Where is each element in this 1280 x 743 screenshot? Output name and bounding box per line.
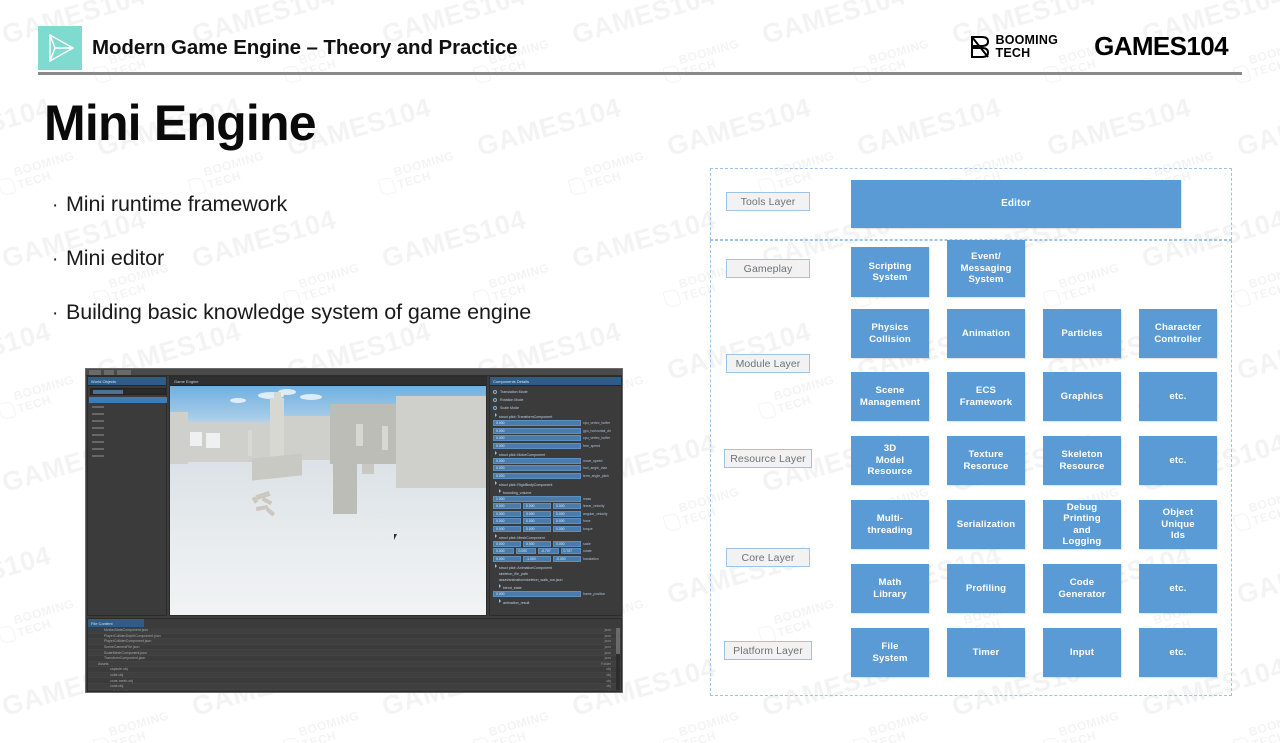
inspector-value-field[interactable]: 0.000 <box>493 556 521 562</box>
editor-screenshot: World Objects Game Engine <box>85 368 623 693</box>
inspector-panel: Components Details Translation ModeRotat… <box>489 376 622 616</box>
booming-tech-b-icon <box>969 35 991 59</box>
inspector-subgroup-label: blend_state <box>503 586 522 590</box>
viewport-tab: Game Engine <box>170 377 486 386</box>
node-label: etc. <box>1167 391 1188 403</box>
inspector-property-row: 0.0000.0000.000force <box>493 518 617 524</box>
file-name: cone.obj <box>88 684 123 688</box>
inspector-property-label: cpu_vertex_buffer <box>583 421 617 425</box>
hierarchy-row[interactable] <box>92 441 104 443</box>
node-label: CodeGenerator <box>1056 577 1107 600</box>
engine-architecture-diagram: Tools Layer Gameplay Module Layer Resour… <box>710 168 1232 696</box>
file-name: ScaleMeshComponent.json <box>88 651 147 655</box>
inspector-value-text: 0.000 <box>496 519 505 523</box>
file-type: json <box>605 645 611 649</box>
inspector-value-text: 0.000 <box>496 557 505 561</box>
inspector-property-row: 0.000free_speed <box>493 443 617 449</box>
expand-triangle-icon <box>495 534 497 538</box>
inspector-value-field[interactable]: -0.000 <box>553 556 581 562</box>
header-divider <box>38 72 1242 75</box>
node-event-messaging-system[interactable]: Event/MessagingSystem <box>947 240 1025 297</box>
inspector-subgroup-header[interactable]: animation_result <box>499 599 617 605</box>
watermark-booming-tech: BOOMINGTECH <box>90 709 174 743</box>
inspector-property-row: 1.000mass <box>493 496 617 502</box>
node-ecs-framework[interactable]: ECSFramework <box>947 372 1025 421</box>
inspector-value-field[interactable]: 0.000 <box>493 465 581 471</box>
watermark-booming-tech: BOOMINGTECH <box>1230 485 1280 532</box>
inspector-value-text: 0.000 <box>496 549 505 553</box>
file-name: PlayerColliderComponent.json <box>88 639 151 643</box>
bullet-item-2: ·Building basic knowledge system of game… <box>52 300 672 325</box>
watermark-booming-tech: BOOMINGTECH <box>375 149 459 196</box>
file-type: obj <box>606 679 611 683</box>
inspector-value-field[interactable]: 0.000 <box>516 548 537 554</box>
node-label: MathLibrary <box>871 577 909 600</box>
watermark-games104: GAMES104 <box>1044 92 1195 163</box>
file-type: Folder <box>601 662 611 666</box>
inspector-group-header[interactable]: struct pilot::MeshComponent <box>495 534 617 540</box>
watermark-booming-tech: BOOMINGTECH <box>1040 709 1124 743</box>
inspector-property-row: 0.000cpu_vertex_buffer <box>493 420 617 426</box>
watermark-games104: GAMES104 <box>664 92 815 163</box>
inspector-value-text: -0.707 <box>541 549 551 553</box>
inspector-property-row: 0.000-1.000-0.000translation <box>493 556 617 562</box>
node-scripting-system[interactable]: ScriptingSystem <box>851 247 929 297</box>
file-browser-scrollbar[interactable] <box>616 628 620 690</box>
node-label: 3DModelResource <box>866 443 915 478</box>
hierarchy-selected-row[interactable] <box>89 397 167 403</box>
inspector-value-text: 0.000 <box>496 474 505 478</box>
tag-module-layer: Module Layer <box>726 354 810 373</box>
inspector-property-label: translation <box>583 557 617 561</box>
inspector-value-field[interactable]: 0.000 <box>493 428 581 434</box>
radio-icon <box>493 398 497 402</box>
node-file-system[interactable]: FileSystem <box>851 628 929 677</box>
hierarchy-row[interactable] <box>92 427 104 429</box>
watermark-booming-tech: BOOMINGTECH <box>0 373 79 420</box>
inspector-property-label: move_speed <box>583 459 617 463</box>
node-label: CharacterController <box>1152 322 1203 345</box>
node-multithreading[interactable]: Multi-threading <box>851 500 929 549</box>
inspector-value-text: 0.000 <box>496 527 505 531</box>
node-debug-printing-and-logging[interactable]: DebugPrintingandLogging <box>1043 500 1121 549</box>
booming-text-line2: TECH <box>995 47 1058 60</box>
inspector-value-text: 0.000 <box>556 512 565 516</box>
file-name: Assets <box>88 662 109 666</box>
inspector-property-label: force <box>583 519 617 523</box>
inspector-value-text: 0.000 <box>496 459 505 463</box>
inspector-value-field[interactable]: -1.000 <box>523 556 551 562</box>
tag-core-layer: Core Layer <box>726 548 810 567</box>
slide-root: GAMES104BOOMINGTECHGAMES104BOOMINGTECHGA… <box>0 0 1280 743</box>
radio-icon <box>493 406 497 410</box>
node-label: Editor <box>999 198 1033 210</box>
node-label: PhysicsCollision <box>867 322 913 345</box>
bullet-text: Mini runtime framework <box>66 192 287 217</box>
bullet-marker-icon: · <box>52 195 66 217</box>
node-core-etc[interactable]: etc. <box>1139 564 1217 613</box>
inspector-value-field[interactable]: 0.000 <box>553 518 581 524</box>
play-triangle-icon <box>38 26 82 70</box>
inspector-value-text: 0.000 <box>556 504 565 508</box>
node-particles[interactable]: Particles <box>1043 309 1121 358</box>
inspector-value-text: 0.000 <box>496 466 505 470</box>
booming-tech-b-icon <box>472 736 491 743</box>
inspector-property-row: 0.0000.000-0.7070.707rotate <box>493 548 617 554</box>
booming-tech-b-icon <box>1042 736 1061 743</box>
file-type: obj <box>606 673 611 677</box>
hierarchy-panel: World Objects <box>87 376 167 616</box>
node-label: etc. <box>1167 647 1188 659</box>
booming-tech-logo: BOOMING TECH <box>969 34 1058 59</box>
inspector-mode-radio[interactable]: Translation Mode <box>493 388 617 395</box>
node-editor[interactable]: Editor <box>851 180 1181 228</box>
bullet-item-1: ·Mini editor <box>52 246 672 271</box>
node-label: SkeletonResource <box>1058 449 1107 472</box>
screenshot-body: World Objects Game Engine <box>86 376 622 616</box>
hierarchy-row[interactable] <box>92 455 104 457</box>
inspector-value-text: 0.000 <box>526 504 535 508</box>
file-type: json <box>605 639 611 643</box>
node-label: Serialization <box>955 519 1017 531</box>
inspector-value-text: 0.000 <box>496 444 505 448</box>
inspector-subgroup-label: bounding_volume <box>503 491 531 495</box>
file-name: cylinder.obj <box>88 690 128 692</box>
watermark-games104: GAMES104 <box>1234 316 1280 387</box>
inspector-group-label: struct pilot::MotorComponent <box>499 453 545 457</box>
watermark-booming-tech: BOOMINGTECH <box>565 149 649 196</box>
inspector-value-field[interactable]: 0.000 <box>493 435 581 441</box>
node-timer[interactable]: Timer <box>947 628 1025 677</box>
node-animation[interactable]: Animation <box>947 309 1025 358</box>
node-input[interactable]: Input <box>1043 628 1121 677</box>
watermark-booming-tech: BOOMINGTECH <box>1230 261 1280 308</box>
inspector-property-label: rotate <box>583 549 617 553</box>
inspector-subgroup-header[interactable]: bounding_volume <box>499 489 617 495</box>
expand-triangle-icon <box>499 489 501 493</box>
inspector-property-row: 0.0000.0000.000linear_velocity <box>493 503 617 509</box>
node-3d-model-resource[interactable]: 3DModelResource <box>851 436 929 485</box>
node-label: Graphics <box>1059 391 1106 403</box>
viewport-cursor <box>394 534 399 540</box>
inspector-property-row: 0.0000.0000.000torque <box>493 526 617 532</box>
node-label: Profiling <box>964 583 1008 595</box>
hierarchy-search-input[interactable] <box>90 388 166 395</box>
inspector-property-row: 0.000frame_position <box>493 591 617 597</box>
file-type: obj <box>606 684 611 688</box>
watermark-booming-tech: BOOMINGTECH <box>1230 709 1280 743</box>
inspector-group-header[interactable]: struct pilot::TransformComponent <box>495 413 617 419</box>
inspector-subgroup-label: animation_result <box>503 601 529 605</box>
watermark-games104: GAMES104 <box>1234 540 1280 611</box>
watermark-booming-tech: BOOMINGTECH <box>660 709 744 743</box>
inspector-tab: Components Details <box>490 377 621 386</box>
inspector-value-field[interactable]: 0.000 <box>493 443 581 449</box>
bullet-text: Building basic knowledge system of game … <box>66 300 531 325</box>
expand-triangle-icon <box>495 451 497 455</box>
inspector-value-field[interactable]: 0.000 <box>553 503 581 509</box>
node-label: ObjectUniqueIds <box>1159 507 1196 542</box>
watermark-games104: GAMES104 <box>0 316 54 387</box>
inspector-value-text: 0.000 <box>496 421 505 425</box>
node-serialization[interactable]: Serialization <box>947 500 1025 549</box>
watermark-booming-tech: BOOMINGTECH <box>280 709 364 743</box>
hierarchy-row[interactable] <box>92 420 104 422</box>
watermark-booming-tech: BOOMINGTECH <box>185 149 269 196</box>
tag-tools-layer: Tools Layer <box>726 192 810 211</box>
bullet-item-0: ·Mini runtime framework <box>52 192 672 217</box>
inspector-value-text: -1.000 <box>526 557 536 561</box>
inspector-value-text: 0.000 <box>526 542 535 546</box>
file-browser-panel: File Content MotionStateComponent.jsonjs… <box>87 618 622 692</box>
hierarchy-row[interactable] <box>92 434 104 436</box>
inspector-value-field[interactable]: 0.000 <box>493 541 521 547</box>
file-type: json <box>605 651 611 655</box>
inspector-value-text: 0.707 <box>564 549 573 553</box>
inspector-property-label: hori_angle_max <box>583 466 617 470</box>
inspector-property-label: free_speed <box>583 444 617 448</box>
inspector-property-label: cpu_vertex_buffer <box>583 436 617 440</box>
expand-triangle-icon <box>499 584 501 588</box>
tag-platform-layer: Platform Layer <box>724 641 812 660</box>
node-label: Event/MessagingSystem <box>959 251 1014 286</box>
inspector-value-field[interactable]: 0.000 <box>493 420 581 426</box>
file-name: SceneCameraFile.json <box>88 645 139 649</box>
node-label: Multi-threading <box>865 513 914 536</box>
node-label: Input <box>1068 647 1096 659</box>
inspector-property-row: 0.000hori_angle_max <box>493 465 617 471</box>
screenshot-menubar <box>86 369 622 376</box>
inspector-value-text: 0.000 <box>496 512 505 516</box>
node-label: TextureResoruce <box>962 449 1011 472</box>
inspector-value-field[interactable]: 0.000 <box>493 503 521 509</box>
watermark-booming-tech: BOOMINGTECH <box>850 709 934 743</box>
inspector-property-label: term_angle_pitch <box>583 474 617 478</box>
hierarchy-tab-label: World Objects <box>91 379 116 384</box>
inspector-value-field[interactable]: 0.000 <box>553 526 581 532</box>
node-scene-management[interactable]: SceneManagement <box>851 372 929 421</box>
inspector-group-label: struct pilot::TransformComponent <box>499 415 552 419</box>
inspector-value-text: 0.000 <box>496 592 505 596</box>
inspector-value-field[interactable]: 0.000 <box>493 473 581 479</box>
node-label: Animation <box>960 328 1012 340</box>
inspector-value-text: 0.000 <box>496 542 505 546</box>
inspector-value-field[interactable]: 0.000 <box>523 541 551 547</box>
expand-triangle-icon <box>495 413 497 417</box>
inspector-value-field[interactable]: 0.000 <box>493 511 521 517</box>
watermark-booming-tech: BOOMINGTECH <box>470 709 554 743</box>
watermark-booming-tech: BOOMINGTECH <box>0 149 79 196</box>
file-name: TransformComponent.json <box>88 656 145 660</box>
inspector-group-header[interactable]: struct pilot::AnimationComponent <box>495 564 617 570</box>
booming-tech-b-icon <box>662 736 681 743</box>
file-name: MotionStateComponent.json <box>88 628 148 632</box>
inspector-value-field[interactable]: 0.000 <box>523 518 551 524</box>
node-label: FileSystem <box>870 641 909 664</box>
watermark-games104: GAMES104 <box>854 92 1005 163</box>
file-type: json <box>605 634 611 638</box>
watermark-games104: GAMES104 <box>474 92 625 163</box>
node-texture-resource[interactable]: TextureResoruce <box>947 436 1025 485</box>
node-platform-etc[interactable]: etc. <box>1139 628 1217 677</box>
inspector-value-text: 0.000 <box>526 512 535 516</box>
booming-tech-b-icon <box>1232 736 1251 743</box>
inspector-mode-label: Translation Mode <box>500 390 528 394</box>
inspector-tab-label: Components Details <box>493 379 529 384</box>
inspector-value-text: 0.000 <box>556 519 565 523</box>
file-row[interactable]: cylinder.objobj <box>88 690 621 692</box>
inspector-property-label: frame_position <box>583 592 617 596</box>
booming-tech-b-icon <box>92 736 111 743</box>
booming-tech-b-icon <box>282 736 301 743</box>
file-browser-tab: File Content <box>88 619 144 627</box>
booming-tech-b-icon <box>0 400 16 420</box>
file-type: json <box>605 656 611 660</box>
inspector-value-field[interactable]: 0.000 <box>523 526 551 532</box>
inspector-value-field[interactable]: 0.707 <box>561 548 582 554</box>
inspector-value-field[interactable]: 1.000 <box>493 496 581 502</box>
inspector-mode-label: Rotation Mode <box>500 398 523 402</box>
node-skeleton-resource[interactable]: SkeletonResource <box>1043 436 1121 485</box>
expand-triangle-icon <box>495 481 497 485</box>
node-character-controller[interactable]: CharacterController <box>1139 309 1217 358</box>
node-label: DebugPrintingandLogging <box>1061 502 1104 548</box>
expand-triangle-icon <box>499 599 501 603</box>
node-label: Timer <box>971 647 1002 659</box>
inspector-property-row: 0.0000.0000.000scale <box>493 541 617 547</box>
bullet-list: ·Mini runtime framework·Mini editor·Buil… <box>52 192 672 354</box>
inspector-property-label: scale <box>583 542 617 546</box>
hierarchy-tab: World Objects <box>88 377 166 386</box>
viewport-panel[interactable]: Game Engine <box>169 376 487 616</box>
inspector-value-text: 0.000 <box>496 429 505 433</box>
node-label: SceneManagement <box>858 385 922 408</box>
header-title: Modern Game Engine – Theory and Practice <box>92 36 517 60</box>
inspector-value-text: 0.000 <box>556 527 565 531</box>
inspector-mode-radio[interactable]: Rotation Mode <box>493 396 617 403</box>
file-type: obj <box>606 690 611 692</box>
slide-header: Modern Game Engine – Theory and Practice… <box>0 0 1280 78</box>
tag-resource-layer: Resource Layer <box>724 449 812 468</box>
node-label: etc. <box>1167 455 1188 467</box>
inspector-value-field[interactable]: 0.000 <box>493 591 581 597</box>
tag-gameplay: Gameplay <box>726 259 810 278</box>
inspector-value-text: -0.000 <box>556 557 566 561</box>
inspector-value-field[interactable]: 0.000 <box>523 503 551 509</box>
inspector-value-field[interactable]: 0.000 <box>493 548 514 554</box>
file-type: obj <box>606 667 611 671</box>
inspector-property-row: 0.000move_speed <box>493 458 617 464</box>
hierarchy-row[interactable] <box>92 448 104 450</box>
watermark-games104: GAMES104 <box>0 540 54 611</box>
node-physics-collision[interactable]: PhysicsCollision <box>851 309 929 358</box>
node-graphics[interactable]: Graphics <box>1043 372 1121 421</box>
node-label: Particles <box>1059 328 1104 340</box>
node-module-etc[interactable]: etc. <box>1139 372 1217 421</box>
inspector-property-label: torque <box>583 527 617 531</box>
node-label: etc. <box>1167 583 1188 595</box>
inspector-value-field[interactable]: 0.000 <box>553 511 581 517</box>
inspector-mode-label: Scale Mode <box>500 406 519 410</box>
inspector-group-label: struct pilot::AnimationComponent <box>499 566 552 570</box>
inspector-value-text: 1.000 <box>496 497 505 501</box>
booming-tech-b-icon <box>1232 288 1251 308</box>
hierarchy-row[interactable] <box>92 413 104 415</box>
inspector-mode-radio[interactable]: Scale Mode <box>493 404 617 411</box>
inspector-property-label: angular_velocity <box>583 512 617 516</box>
node-label: ScriptingSystem <box>867 261 914 284</box>
hierarchy-row[interactable] <box>92 406 104 408</box>
file-name: cube.obj <box>88 673 123 677</box>
inspector-property-label: gpu_horizontal_dir <box>583 429 617 433</box>
inspector-property-label: linear_velocity <box>583 504 617 508</box>
node-math-library[interactable]: MathLibrary <box>851 564 929 613</box>
booming-tech-b-icon <box>1232 512 1251 532</box>
expand-triangle-icon <box>495 564 497 568</box>
inspector-value-text: 0.000 <box>496 504 505 508</box>
inspector-group-label: struct pilot::RigidBodyComponent <box>499 483 552 487</box>
viewport-tab-label: Game Engine <box>170 379 198 384</box>
inspector-group-header[interactable]: struct pilot::RigidBodyComponent <box>495 481 617 487</box>
inspector-property-row: 0.000cpu_vertex_buffer <box>493 435 617 441</box>
inspector-value-field[interactable]: 0.000 <box>523 511 551 517</box>
inspector-subtext: asset/animation/skeleton_walk_run.json <box>499 578 617 582</box>
3d-scene <box>170 386 487 616</box>
inspector-group-label: struct pilot::MeshComponent <box>499 536 545 540</box>
node-object-unique-ids[interactable]: ObjectUniqueIds <box>1139 500 1217 549</box>
inspector-value-field[interactable]: 0.000 <box>493 526 521 532</box>
inspector-subtext: skeleton_file_path <box>499 572 617 576</box>
inspector-value-field[interactable]: 0.000 <box>553 541 581 547</box>
radio-icon <box>493 390 497 394</box>
file-name: cone-mesh.obj <box>88 679 133 683</box>
inspector-value-field[interactable]: -0.707 <box>538 548 559 554</box>
booming-text-line1: BOOMING <box>995 34 1058 47</box>
inspector-value-field[interactable]: 0.000 <box>493 518 521 524</box>
inspector-value-text: 0.000 <box>519 549 528 553</box>
inspector-value-text: 0.000 <box>556 542 565 546</box>
node-code-generator[interactable]: CodeGenerator <box>1043 564 1121 613</box>
node-label: ECSFramework <box>958 385 1015 408</box>
inspector-property-row: 0.0000.0000.000angular_velocity <box>493 511 617 517</box>
file-browser-tab-label: File Content <box>91 621 113 626</box>
booming-tech-b-icon <box>0 176 16 196</box>
inspector-property-row: 0.000term_angle_pitch <box>493 473 617 479</box>
bullet-marker-icon: · <box>52 249 66 271</box>
file-name: PlayerColliderDepthComponent.json <box>88 634 161 638</box>
watermark-booming-tech: BOOMINGTECH <box>0 597 79 644</box>
inspector-value-field[interactable]: 0.000 <box>493 458 581 464</box>
inspector-value-text: 0.000 <box>526 527 535 531</box>
bullet-text: Mini editor <box>66 246 164 271</box>
page-title: Mini Engine <box>44 94 316 152</box>
inspector-value-text: 0.000 <box>526 519 535 523</box>
inspector-value-text: 0.000 <box>496 436 505 440</box>
inspector-property-label: mass <box>583 497 617 501</box>
file-type: json <box>605 628 611 632</box>
node-profiling[interactable]: Profiling <box>947 564 1025 613</box>
node-resource-etc[interactable]: etc. <box>1139 436 1217 485</box>
booming-tech-b-icon <box>0 624 16 644</box>
booming-tech-b-icon <box>852 736 871 743</box>
booming-tech-b-icon <box>662 512 681 532</box>
inspector-group-header[interactable]: struct pilot::MotorComponent <box>495 451 617 457</box>
bullet-marker-icon: · <box>52 303 66 325</box>
inspector-property-row: 0.000gpu_horizontal_dir <box>493 428 617 434</box>
inspector-subgroup-header[interactable]: blend_state <box>499 584 617 590</box>
file-name: capsule.obj <box>88 667 128 671</box>
games104-logo: GAMES104 <box>1094 31 1228 62</box>
